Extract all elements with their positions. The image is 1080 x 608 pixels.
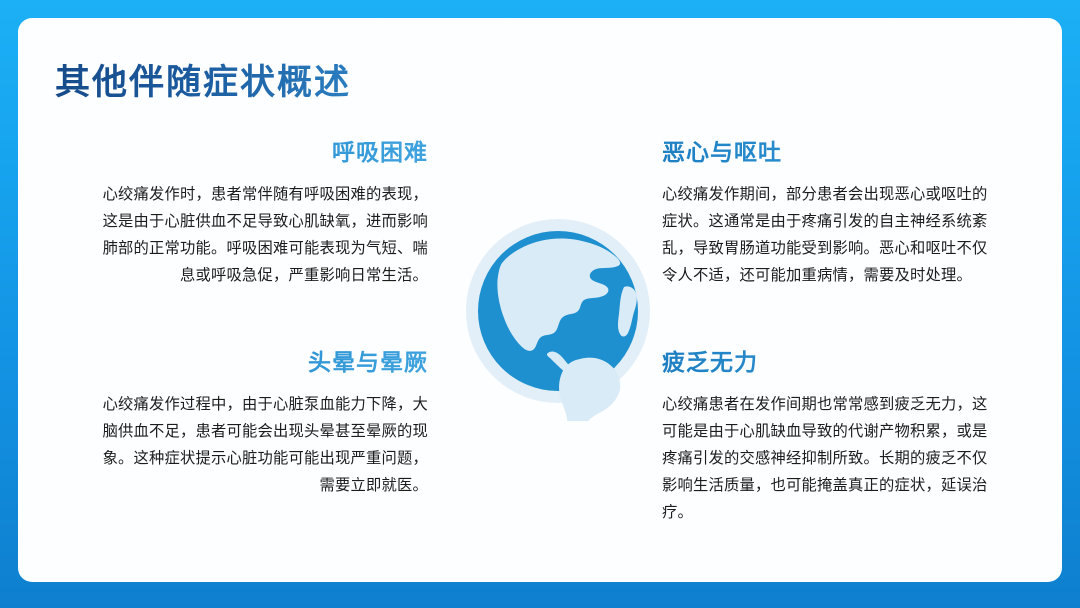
globe-icon-svg	[448, 201, 668, 421]
globe-land-south-america	[559, 358, 620, 421]
symptom-block-fatigue: 疲乏无力 心绞痛患者在发作间期也常常感到疲乏无力，这可能是由于心肌缺血导致的代谢…	[662, 349, 1002, 527]
symptom-block-nausea: 恶心与呕吐 心绞痛发作期间，部分患者会出现恶心或呕吐的症状。这通常是由于疼痛引发…	[662, 139, 1002, 289]
symptom-heading-breathing: 呼吸困难	[88, 139, 428, 167]
symptom-block-breathing: 呼吸困难 心绞痛发作时，患者常伴随有呼吸困难的表现，这是由于心脏供血不足导致心肌…	[88, 139, 428, 289]
symptom-body-fatigue: 心绞痛患者在发作间期也常常感到疲乏无力，这可能是由于心肌缺血导致的代谢产物积累，…	[662, 391, 1002, 527]
slide-card: 其他伴随症状概述 呼吸困难 心绞痛发作时，患者常伴随有呼吸困难的表现，这是由于心…	[18, 18, 1062, 582]
symptom-body-dizziness: 心绞痛发作过程中，由于心脏泵血能力下降，大脑供血不足，患者可能会出现头晕甚至晕厥…	[88, 391, 428, 500]
symptom-heading-fatigue: 疲乏无力	[662, 349, 1002, 377]
symptom-body-breathing: 心绞痛发作时，患者常伴随有呼吸困难的表现，这是由于心脏供血不足导致心肌缺氧，进而…	[88, 181, 428, 290]
symptom-block-dizziness: 头晕与晕厥 心绞痛发作过程中，由于心脏泵血能力下降，大脑供血不足，患者可能会出现…	[88, 349, 428, 499]
globe-icon	[448, 201, 668, 421]
symptom-body-nausea: 心绞痛发作期间，部分患者会出现恶心或呕吐的症状。这通常是由于疼痛引发的自主神经系…	[662, 181, 1002, 290]
symptom-heading-dizziness: 头晕与晕厥	[88, 349, 428, 377]
slide-root: 其他伴随症状概述 呼吸困难 心绞痛发作时，患者常伴随有呼吸困难的表现，这是由于心…	[0, 0, 1080, 608]
symptom-heading-nausea: 恶心与呕吐	[662, 139, 1002, 167]
page-title: 其他伴随症状概述	[55, 59, 351, 106]
